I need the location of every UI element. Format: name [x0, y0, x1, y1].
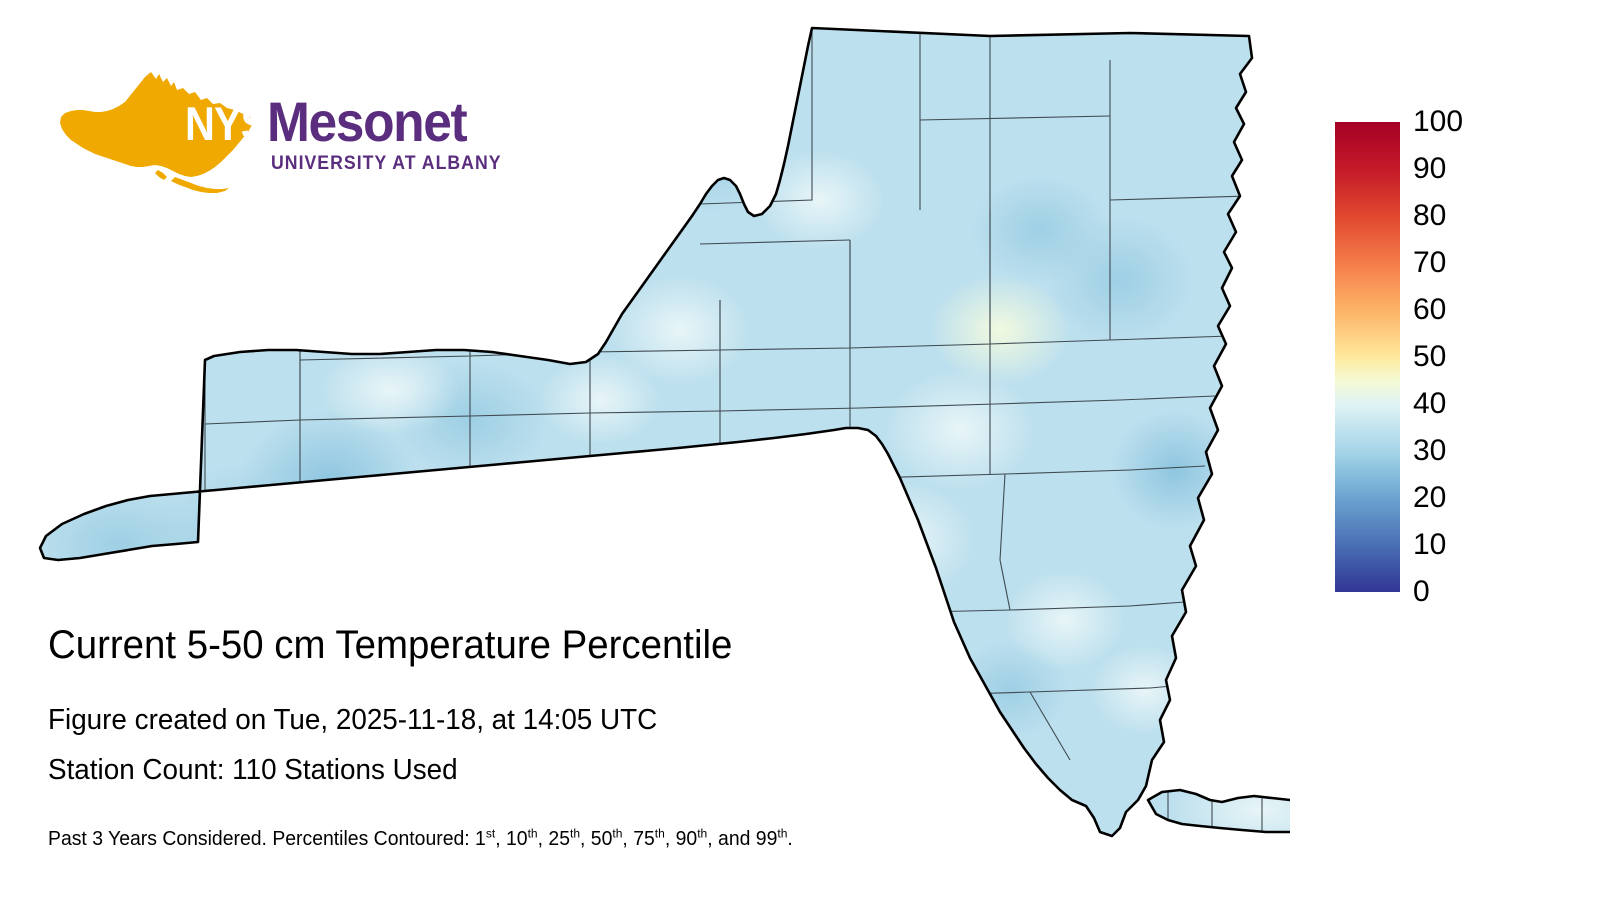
colorbar-tick-100: 100 [1413, 107, 1463, 137]
colorbar-tick-40: 40 [1413, 389, 1446, 419]
colorbar-gradient [1335, 122, 1400, 592]
colorbar-tick-80: 80 [1413, 201, 1446, 231]
colorbar-tick-30: 30 [1413, 436, 1446, 466]
station-count-label: Station Count: 110 Stations Used [48, 755, 458, 785]
colorbar-tick-10: 10 [1413, 530, 1446, 560]
page-title: Current 5-50 cm Temperature Percentile [48, 624, 732, 666]
colorbar-tick-50: 50 [1413, 342, 1446, 372]
colorbar-tick-0: 0 [1413, 577, 1430, 607]
figure-created-timestamp: Figure created on Tue, 2025-11-18, at 14… [48, 705, 657, 735]
footnote-percentile-levels: Past 3 Years Considered. Percentiles Con… [48, 828, 793, 850]
map-figure: NYS Mesonet UNIVERSITY AT ALBANY [0, 0, 1600, 900]
colorbar-tick-60: 60 [1413, 295, 1446, 325]
colorbar-tick-labels: 1009080706050403020100 [1413, 122, 1523, 592]
colorbar-tick-20: 20 [1413, 483, 1446, 513]
colorbar-tick-90: 90 [1413, 154, 1446, 184]
colorbar-tick-70: 70 [1413, 248, 1446, 278]
colorbar: 1009080706050403020100 [1335, 122, 1535, 592]
